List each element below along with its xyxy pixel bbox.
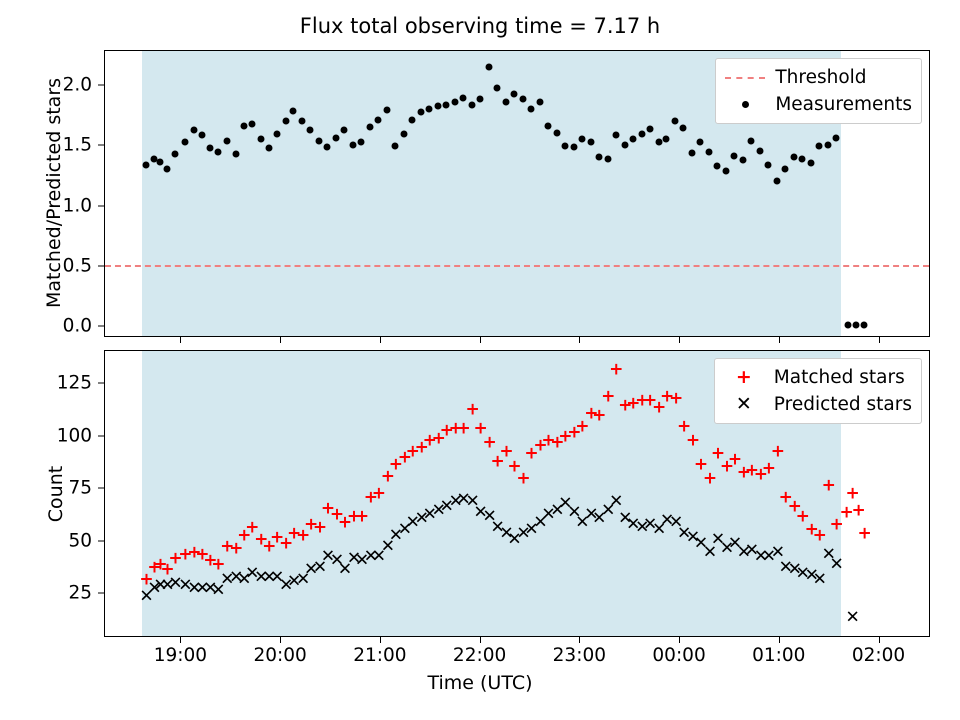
plus-icon: + bbox=[722, 368, 766, 387]
matched-star-point: + bbox=[846, 487, 859, 500]
y-tick-mark bbox=[98, 593, 104, 594]
legend-entry-label: Threshold bbox=[775, 67, 866, 88]
x-tick-mark bbox=[280, 637, 281, 643]
bottom-panel-axes: ++++++++++++++++++++++++++++++++++++++++… bbox=[104, 350, 930, 637]
figure: Flux total observing time = 7.17 h Match… bbox=[0, 0, 960, 720]
y-tick-mark bbox=[98, 325, 104, 326]
dot-icon bbox=[742, 101, 749, 108]
y-tick-label: 100 bbox=[0, 425, 92, 446]
y-tick-label: 1.0 bbox=[0, 195, 92, 216]
y-tick-mark bbox=[98, 383, 104, 384]
legend-entry: ✕Predicted stars bbox=[722, 391, 912, 418]
y-tick-mark bbox=[98, 205, 104, 206]
x-tick-label: 02:00 bbox=[852, 645, 905, 666]
dashed-line-icon bbox=[723, 77, 767, 79]
y-tick-mark bbox=[98, 265, 104, 266]
legend-entry-label: Measurements bbox=[775, 94, 912, 115]
measurement-point bbox=[845, 322, 852, 329]
legend-entry-label: Matched stars bbox=[774, 367, 905, 388]
x-tick-mark bbox=[779, 337, 780, 343]
x-tick-label: 22:00 bbox=[453, 645, 506, 666]
y-tick-label: 125 bbox=[0, 373, 92, 394]
x-tick-mark bbox=[679, 637, 680, 643]
threshold-line bbox=[105, 265, 929, 267]
y-tick-mark bbox=[98, 145, 104, 146]
y-tick-mark bbox=[98, 540, 104, 541]
y-tick-label: 0.0 bbox=[0, 315, 92, 336]
plus-icon: + bbox=[736, 368, 752, 387]
matched-star-point: + bbox=[857, 527, 870, 540]
y-tick-mark bbox=[98, 85, 104, 86]
x-tick-label: 01:00 bbox=[752, 645, 805, 666]
x-tick-mark bbox=[180, 637, 181, 643]
x-tick-mark bbox=[380, 637, 381, 643]
x-tick-mark bbox=[879, 337, 880, 343]
x-tick-label: 21:00 bbox=[353, 645, 406, 666]
dashed-line-icon bbox=[725, 77, 765, 79]
legend-entry-label: Predicted stars bbox=[774, 394, 912, 415]
x-tick-mark bbox=[779, 637, 780, 643]
x-axis-label: Time (UTC) bbox=[0, 672, 960, 694]
y-tick-label: 75 bbox=[0, 478, 92, 499]
cross-icon: ✕ bbox=[736, 395, 752, 414]
y-tick-label: 50 bbox=[0, 530, 92, 551]
x-tick-mark bbox=[679, 337, 680, 343]
y-tick-label: 0.5 bbox=[0, 255, 92, 276]
legend-entry: Measurements bbox=[723, 91, 912, 118]
matched-star-point: + bbox=[840, 506, 853, 519]
y-tick-label: 1.5 bbox=[0, 135, 92, 156]
y-tick-label: 2.0 bbox=[0, 75, 92, 96]
y-tick-mark bbox=[98, 488, 104, 489]
x-tick-mark bbox=[480, 637, 481, 643]
x-tick-mark bbox=[579, 337, 580, 343]
top-panel-legend: ThresholdMeasurements bbox=[715, 58, 922, 124]
x-tick-mark bbox=[180, 337, 181, 343]
measurement-point bbox=[860, 322, 867, 329]
bottom-panel-legend: +Matched stars✕Predicted stars bbox=[714, 358, 922, 424]
dot-icon bbox=[723, 101, 767, 108]
x-tick-mark bbox=[879, 637, 880, 643]
x-tick-label: 19:00 bbox=[154, 645, 207, 666]
y-tick-mark bbox=[98, 435, 104, 436]
x-tick-label: 00:00 bbox=[652, 645, 705, 666]
legend-entry: +Matched stars bbox=[722, 364, 912, 391]
measurement-point bbox=[852, 322, 859, 329]
y-tick-label: 25 bbox=[0, 583, 92, 604]
matched-star-point: + bbox=[851, 504, 864, 517]
x-tick-label: 20:00 bbox=[253, 645, 306, 666]
x-tick-mark bbox=[280, 337, 281, 343]
x-tick-label: 23:00 bbox=[553, 645, 606, 666]
cross-icon: ✕ bbox=[722, 395, 766, 414]
legend-entry: Threshold bbox=[723, 64, 912, 91]
predicted-star-point: ✕ bbox=[846, 611, 859, 624]
figure-title: Flux total observing time = 7.17 h bbox=[0, 14, 960, 38]
top-panel-axes: ThresholdMeasurements bbox=[104, 50, 930, 337]
x-tick-mark bbox=[480, 337, 481, 343]
x-tick-mark bbox=[380, 337, 381, 343]
x-tick-mark bbox=[579, 637, 580, 643]
